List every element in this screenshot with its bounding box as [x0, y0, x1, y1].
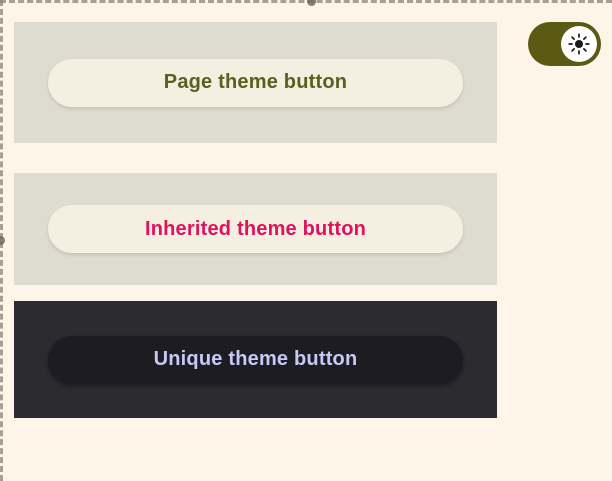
selection-handle-left-middle[interactable] [0, 236, 5, 245]
card-unique-theme: Unique theme button [14, 301, 497, 418]
card-page-theme: Page theme button [14, 22, 497, 143]
theme-toggle-knob [561, 26, 597, 62]
selection-border-top [0, 0, 612, 3]
selection-handle-top-center[interactable] [307, 0, 316, 6]
page-theme-button[interactable]: Page theme button [48, 59, 463, 107]
theme-toggle[interactable] [528, 22, 601, 66]
unique-theme-button[interactable]: Unique theme button [48, 336, 463, 384]
page-canvas: Page theme button Inherited theme button… [0, 0, 612, 481]
sun-icon [568, 33, 590, 55]
inherited-theme-button[interactable]: Inherited theme button [48, 205, 463, 253]
card-inherited-theme: Inherited theme button [14, 173, 497, 285]
